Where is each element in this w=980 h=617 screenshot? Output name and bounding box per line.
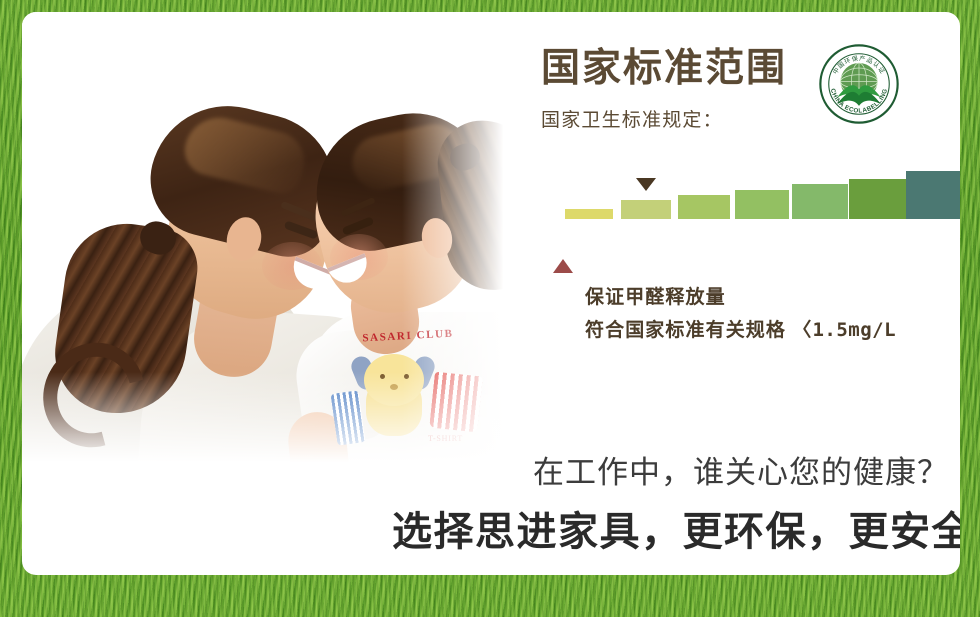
page-subtitle: 国家卫生标准规定： <box>541 105 723 132</box>
scale-bar-3 <box>678 195 730 219</box>
spec-line-2: 符合国家标准有关规格 〈1.5mg/L <box>585 314 896 347</box>
photo-bottom-fade <box>22 372 532 482</box>
photo-canvas: SASARI CLUB T-SHIRT <box>22 12 532 482</box>
spec-text-block: 保证甲醛释放量 符合国家标准有关规格 〈1.5mg/L <box>585 281 896 347</box>
formaldehyde-level-scale <box>543 163 943 219</box>
mother-and-child-photo: SASARI CLUB T-SHIRT <box>22 12 532 482</box>
slogan-question: 在工作中，谁关心您的健康？ <box>533 447 949 492</box>
scale-bar-4 <box>735 190 789 219</box>
scale-bar-6 <box>849 179 906 219</box>
standard-limit-marker-icon <box>636 178 656 191</box>
scale-bar-1 <box>565 209 613 219</box>
slogan-brand-claim: 选择思进家具，更环保，更安全 <box>392 499 960 557</box>
page-title: 国家标准范围 <box>541 48 787 91</box>
scale-bar-5 <box>792 184 848 219</box>
scale-bar-7 <box>906 171 960 219</box>
spec-line-2-prefix: 符合国家标准有关规格 〈 <box>585 320 812 341</box>
china-ecolabelling-badge: 中国环保产品认证 CHINA ECOLABELLING <box>817 42 901 126</box>
spec-line-1: 保证甲醛释放量 <box>585 281 896 314</box>
eco-standard-banner: SASARI CLUB T-SHIRT 国家标准范围 国家卫生标准规定： <box>0 0 980 617</box>
scale-bar-2 <box>621 200 671 219</box>
content-card: SASARI CLUB T-SHIRT 国家标准范围 国家卫生标准规定： <box>22 12 960 575</box>
spec-limit-value: 1.5mg/L <box>812 319 896 341</box>
product-level-marker-icon <box>553 259 573 273</box>
